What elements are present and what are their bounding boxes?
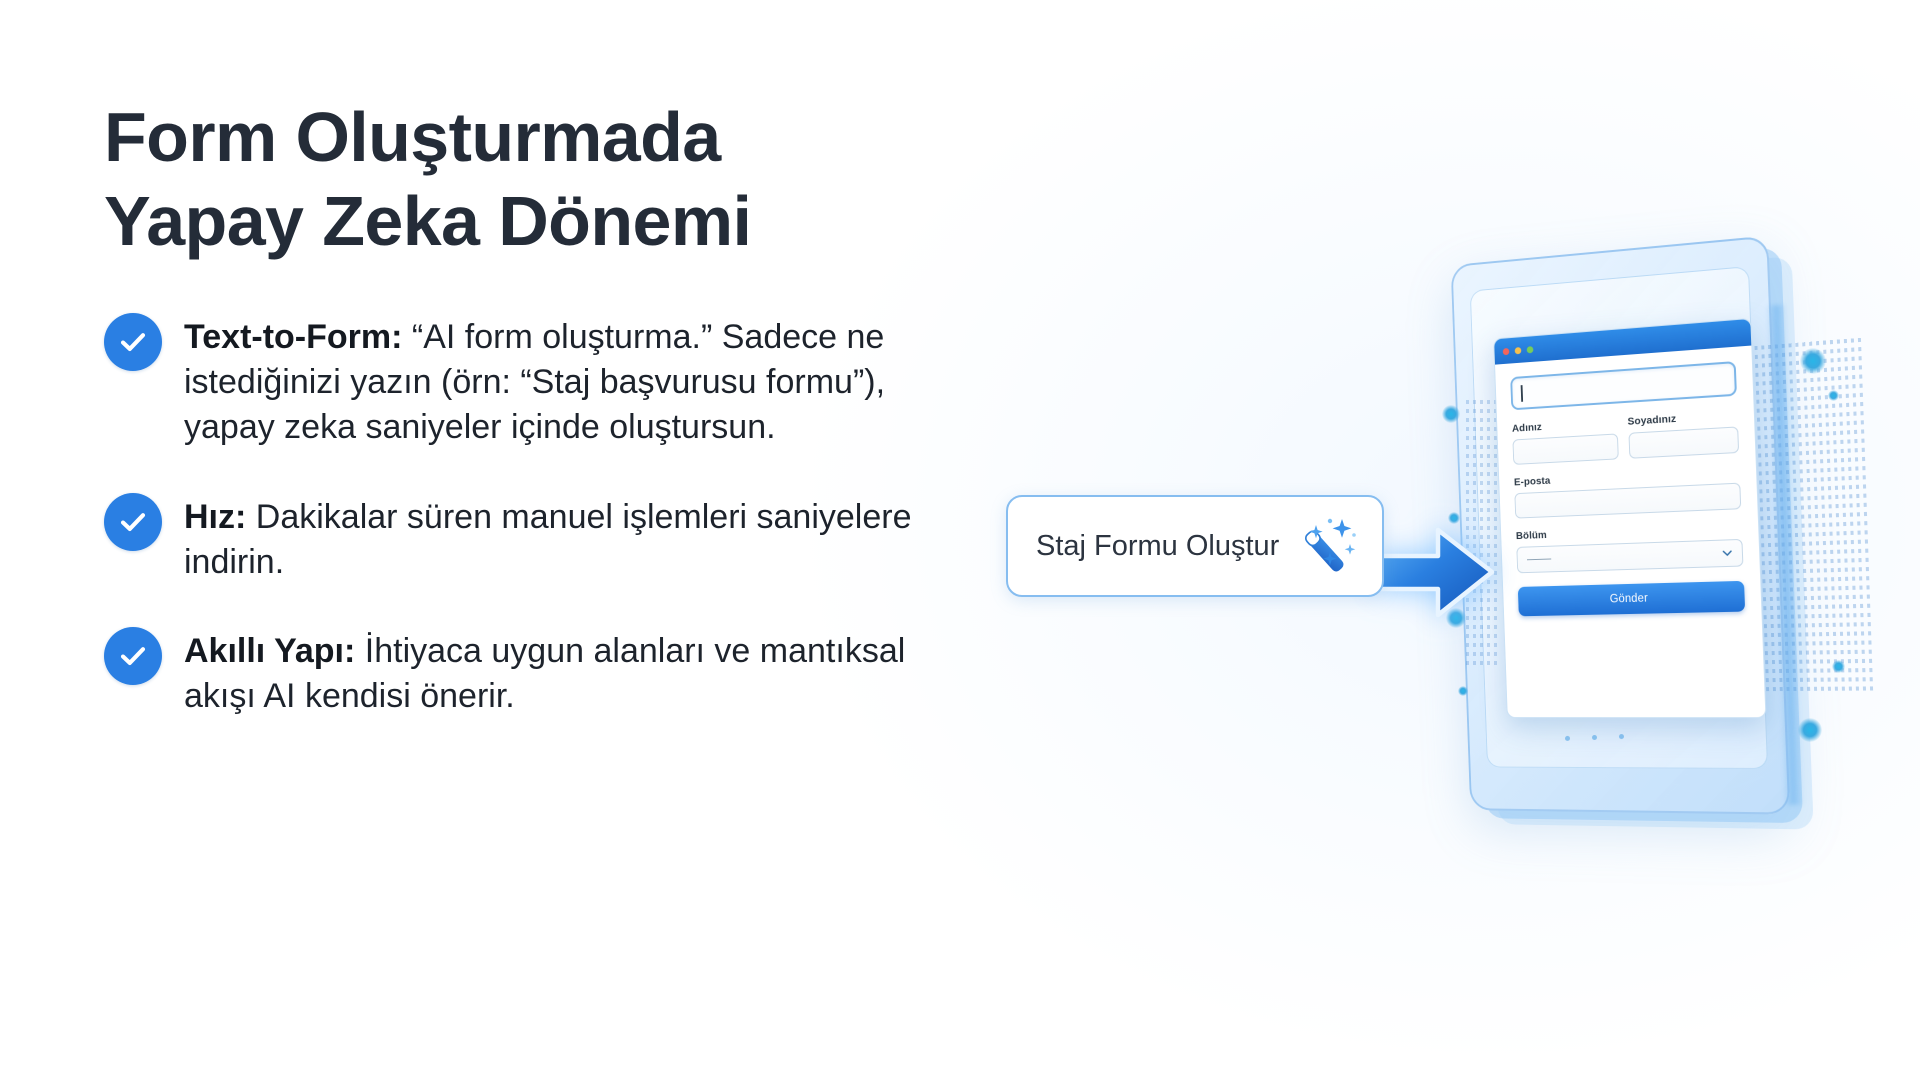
form-body: Adınız Soyadınız E-posta Bölüm [1495,346,1762,629]
form-window: Adınız Soyadınız E-posta Bölüm [1493,318,1766,718]
list-item: Text-to-Form: “AI form oluşturma.” Sadec… [104,309,964,451]
glow-particle [1798,718,1822,742]
field-group-department: Bölüm [1516,521,1744,573]
feature-list: Text-to-Form: “AI form oluşturma.” Sadec… [104,309,964,720]
field-group-last-name: Soyadınız [1627,409,1739,459]
field-group-first-name: Adınız [1512,416,1618,464]
list-item-text: Hız: Dakikalar süren manuel işlemleri sa… [184,489,924,585]
list-item-text: Text-to-Form: “AI form oluşturma.” Sadec… [184,309,924,451]
indicator-dot [1592,735,1597,740]
text-caret [1521,385,1523,402]
department-select[interactable] [1516,539,1743,573]
glow-particle [1828,390,1839,401]
arrow-right-icon [1376,520,1496,625]
email-field[interactable] [1514,483,1741,519]
glow-particle [1442,405,1460,423]
field-label: Soyadınız [1627,409,1738,428]
window-close-dot[interactable] [1503,347,1510,354]
check-circle-icon [104,313,162,371]
chevron-down-icon [1721,546,1735,560]
magic-wand-icon [1290,511,1360,581]
glow-particle [1800,348,1826,374]
prompt-label: Staj Formu Oluştur [1036,530,1290,563]
content-column: Form Oluşturmada Yapay Zeka Dönemi Text-… [104,95,964,720]
indicator-dot [1565,736,1570,741]
field-label: Bölüm [1516,521,1742,542]
form-title-input[interactable] [1510,361,1737,410]
glow-particle [1832,660,1845,673]
name-row: Adınız Soyadınız [1512,409,1739,465]
list-item-lead: Hız: [184,498,246,536]
list-item-body: Dakikalar süren manuel işlemleri saniyel… [184,498,912,581]
slide-root: Form Oluşturmada Yapay Zeka Dönemi Text-… [0,0,1920,1080]
glow-particle [1458,686,1468,696]
window-maximize-dot[interactable] [1527,346,1534,353]
list-item: Hız: Dakikalar süren manuel işlemleri sa… [104,489,964,585]
submit-button[interactable]: Gönder [1518,581,1745,616]
list-item-text: Akıllı Yapı: İhtiyaca uygun alanları ve … [184,623,924,719]
check-circle-icon [104,627,162,685]
last-name-input[interactable] [1628,426,1739,458]
illustration: Adınız Soyadınız E-posta Bölüm [980,250,1860,850]
list-item-lead: Akıllı Yapı: [184,632,355,670]
prompt-button[interactable]: Staj Formu Oluştur [1006,495,1384,597]
field-label: Adınız [1512,416,1617,434]
window-minimize-dot[interactable] [1515,347,1522,354]
first-name-input[interactable] [1512,433,1618,464]
select-placeholder-dash [1527,558,1551,560]
check-circle-icon [104,493,162,551]
list-item: Akıllı Yapı: İhtiyaca uygun alanları ve … [104,623,964,719]
indicator-dot [1619,734,1624,739]
list-item-lead: Text-to-Form: [184,318,402,356]
page-title: Form Oluşturmada Yapay Zeka Dönemi [104,95,964,263]
field-group-email: E-posta [1514,465,1741,518]
